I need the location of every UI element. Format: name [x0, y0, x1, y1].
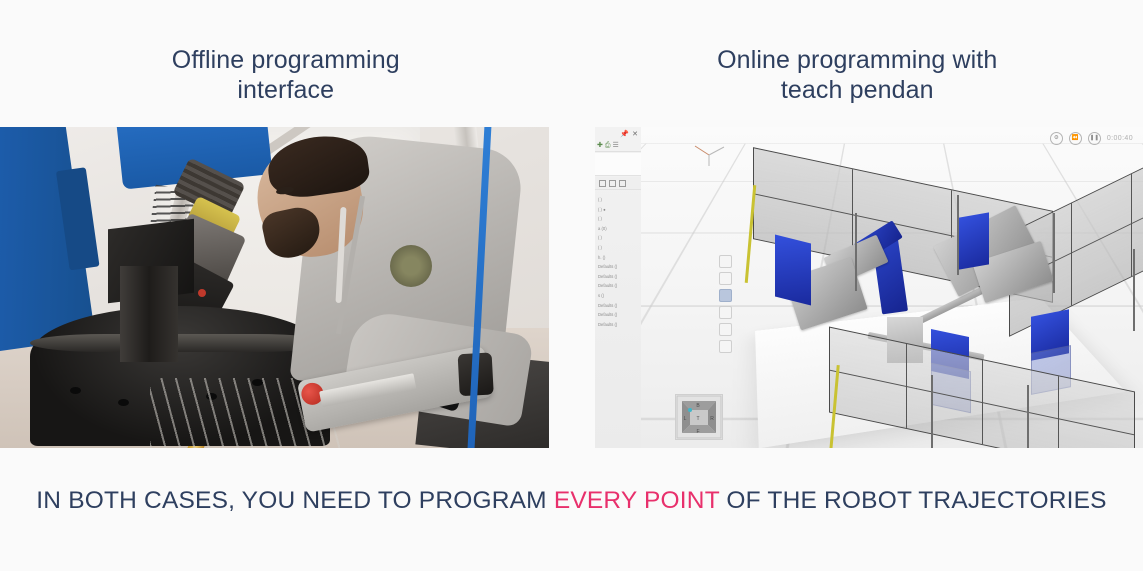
- tree-item[interactable]: Defaults (): [598, 281, 639, 291]
- rewind-icon[interactable]: ⏪: [1069, 132, 1082, 145]
- tree-item[interactable]: Defaults (): [598, 272, 639, 282]
- pause-icon[interactable]: ❚❚: [1088, 132, 1101, 145]
- tree-item[interactable]: Defaults (): [598, 262, 639, 272]
- add-icon[interactable]: ✚: [597, 142, 603, 149]
- tree-item[interactable]: ( ): [598, 233, 639, 243]
- caption-highlight: EVERY POINT: [554, 487, 720, 514]
- simulation-app: 📌 ✕ ✚ ⎙ ☰ ( ): [595, 127, 1143, 448]
- tree-item[interactable]: ( ): [598, 195, 639, 205]
- tree-item[interactable]: ( ): [598, 214, 639, 224]
- caption-text-before: IN BOTH CASES, YOU NEED TO PROGRAM: [36, 487, 554, 514]
- fence-post: [957, 195, 959, 275]
- turntable-hole: [70, 387, 81, 394]
- close-icon[interactable]: ✕: [632, 131, 638, 138]
- turntable-hole: [118, 399, 129, 406]
- offline-title: Offline programming interface: [172, 45, 400, 105]
- fence-post: [1133, 249, 1135, 331]
- media-row: 📌 ✕ ✚ ⎙ ☰ ( ): [0, 127, 1143, 448]
- sidebar-search-area[interactable]: [595, 153, 641, 176]
- viewport-tool-strip: [717, 255, 733, 353]
- tree-item[interactable]: Defaults (): [598, 320, 639, 330]
- pendant-screen: [319, 373, 416, 407]
- slide-root: Offline programming interface Online pro…: [0, 0, 1143, 571]
- tree-item[interactable]: Defaults (): [598, 310, 639, 320]
- online-programming-screenshot: 📌 ✕ ✚ ⎙ ☰ ( ): [595, 127, 1143, 448]
- blue-fixture-top: [959, 212, 989, 269]
- simulation-sidebar: 📌 ✕ ✚ ⎙ ☰ ( ): [595, 127, 642, 448]
- square-icon[interactable]: [619, 180, 626, 187]
- svg-text:R: R: [710, 416, 714, 422]
- simulation-timecode: 0:00:40: [1107, 135, 1133, 142]
- tree-item[interactable]: ( ): [598, 243, 639, 253]
- svg-text:T: T: [696, 416, 699, 422]
- offline-programming-photo: [0, 127, 549, 448]
- view-cube-icon[interactable]: B L T R F: [675, 394, 723, 440]
- square-icon[interactable]: [599, 180, 606, 187]
- axis-triad-icon: [691, 141, 727, 167]
- viewport-playback-bar: ⚙ ⏪ ❚❚ 0:00:40: [1050, 131, 1133, 145]
- settings-icon[interactable]: ⚙: [1050, 132, 1063, 145]
- tree-item[interactable]: Defaults (): [598, 301, 639, 311]
- heading-cell-online: Online programming with teach pendan: [572, 0, 1143, 127]
- online-title: Online programming with teach pendan: [717, 45, 997, 105]
- list-icon[interactable]: ☰: [612, 142, 618, 149]
- box-icon[interactable]: [719, 306, 732, 319]
- sidebar-titlebar: 📌 ✕: [595, 129, 641, 140]
- operator: [240, 137, 549, 448]
- tree-item[interactable]: h. (): [598, 253, 639, 263]
- caption-text-after: OF THE ROBOT TRAJECTORIES: [719, 487, 1106, 514]
- tree-item[interactable]: ( ) ●: [598, 205, 639, 215]
- fence-post: [1027, 385, 1029, 448]
- sidebar-subtoolbar: [595, 177, 641, 190]
- refresh-icon[interactable]: ⎙: [605, 142, 611, 149]
- square-icon[interactable]: [609, 180, 616, 187]
- caption-row: IN BOTH CASES, YOU NEED TO PROGRAM EVERY…: [0, 470, 1143, 532]
- heading-cell-offline: Offline programming interface: [0, 0, 572, 127]
- photo-scene-left: [0, 127, 549, 448]
- slide-caption: IN BOTH CASES, YOU NEED TO PROGRAM EVERY…: [36, 486, 1106, 516]
- svg-text:L: L: [684, 416, 687, 422]
- scene-tree[interactable]: ( ) ( ) ● ( ) a (0) ( ) ( ) h. () Defaul…: [595, 193, 641, 329]
- measure-icon[interactable]: [719, 323, 732, 336]
- blue-fixture-left: [775, 235, 811, 306]
- zoom-icon[interactable]: [719, 289, 732, 302]
- sidebar-toolbar: ✚ ⎙ ☰: [595, 140, 641, 152]
- pin-icon[interactable]: 📌: [620, 131, 629, 138]
- fixture-post: [120, 266, 178, 362]
- render-icon[interactable]: [719, 340, 732, 353]
- fence-post: [1053, 213, 1055, 293]
- tree-item[interactable]: a (0): [598, 224, 639, 234]
- fence-post: [855, 213, 857, 291]
- select-icon[interactable]: [719, 255, 732, 268]
- tool-indicator-light: [198, 289, 206, 297]
- simulation-viewport[interactable]: ⚙ ⏪ ❚❚ 0:00:40: [641, 127, 1143, 448]
- headings-row: Offline programming interface Online pro…: [0, 0, 1143, 127]
- hoodie-logo: [390, 245, 432, 287]
- fence-post: [931, 375, 933, 448]
- tree-item[interactable]: s (): [598, 291, 639, 301]
- pan-icon[interactable]: [719, 272, 732, 285]
- svg-text:F: F: [696, 429, 699, 435]
